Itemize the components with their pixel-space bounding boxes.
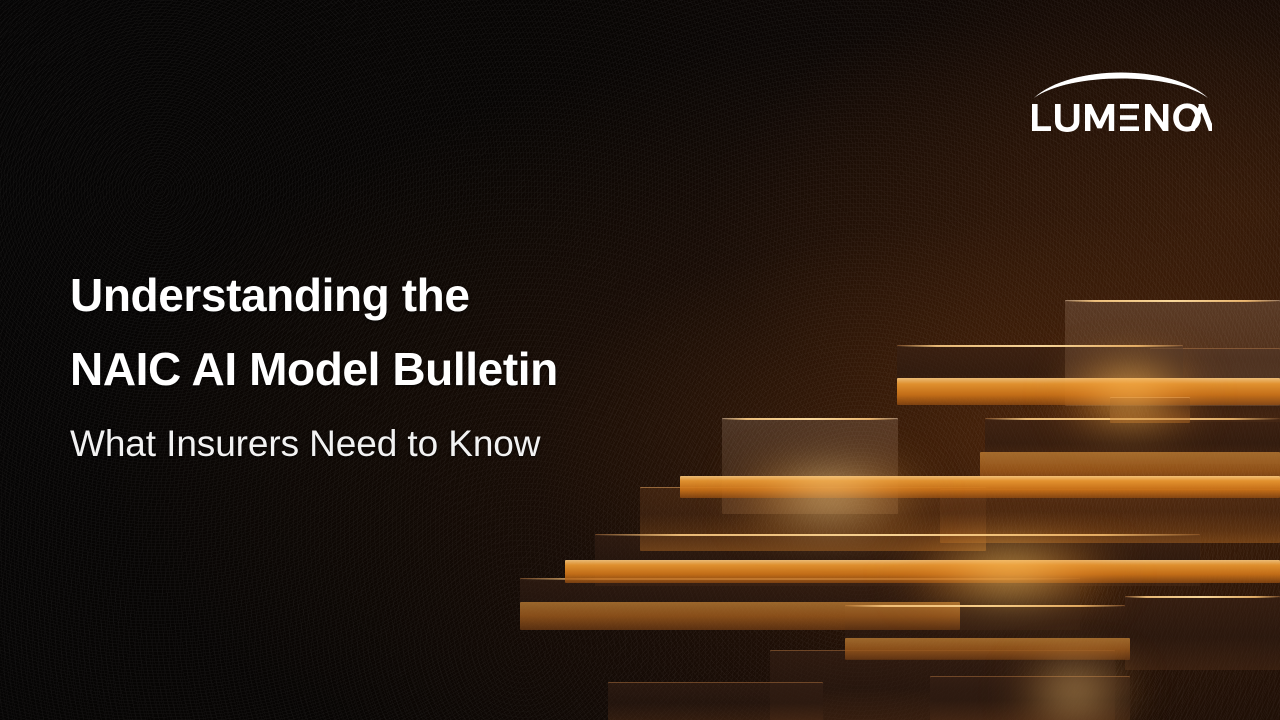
slide-canvas: Understanding the NAIC AI Model Bulletin… [0, 0, 1280, 720]
lumenova-logo[interactable] [1030, 60, 1212, 140]
page-subtitle: What Insurers Need to Know [70, 416, 710, 472]
page-title-line-1: Understanding the [70, 258, 710, 332]
logo-wordmark [1030, 102, 1212, 132]
logo-arc-icon [1030, 60, 1212, 100]
headline-block: Understanding the NAIC AI Model Bulletin… [70, 258, 710, 472]
page-title-line-2: NAIC AI Model Bulletin [70, 332, 710, 406]
